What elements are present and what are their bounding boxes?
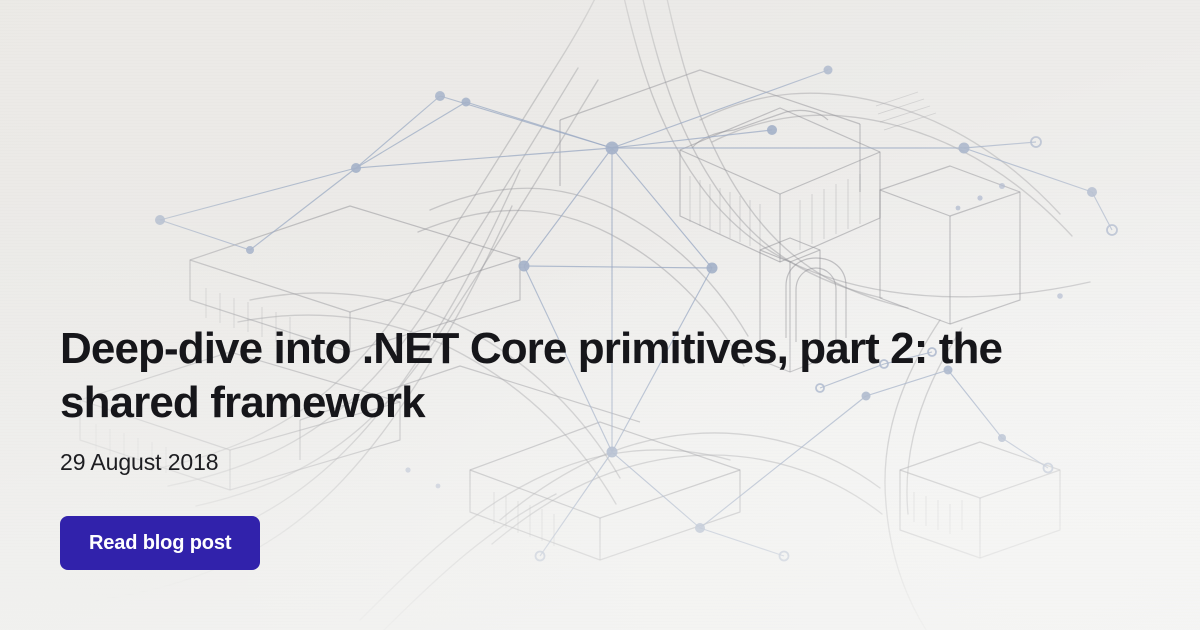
card-content: Deep-dive into .NET Core primitives, par… — [60, 0, 1060, 630]
read-blog-post-button[interactable]: Read blog post — [60, 516, 260, 570]
publish-date: 29 August 2018 — [60, 448, 218, 478]
page-title: Deep-dive into .NET Core primitives, par… — [60, 322, 1050, 429]
blog-share-card: Deep-dive into .NET Core primitives, par… — [0, 0, 1200, 630]
